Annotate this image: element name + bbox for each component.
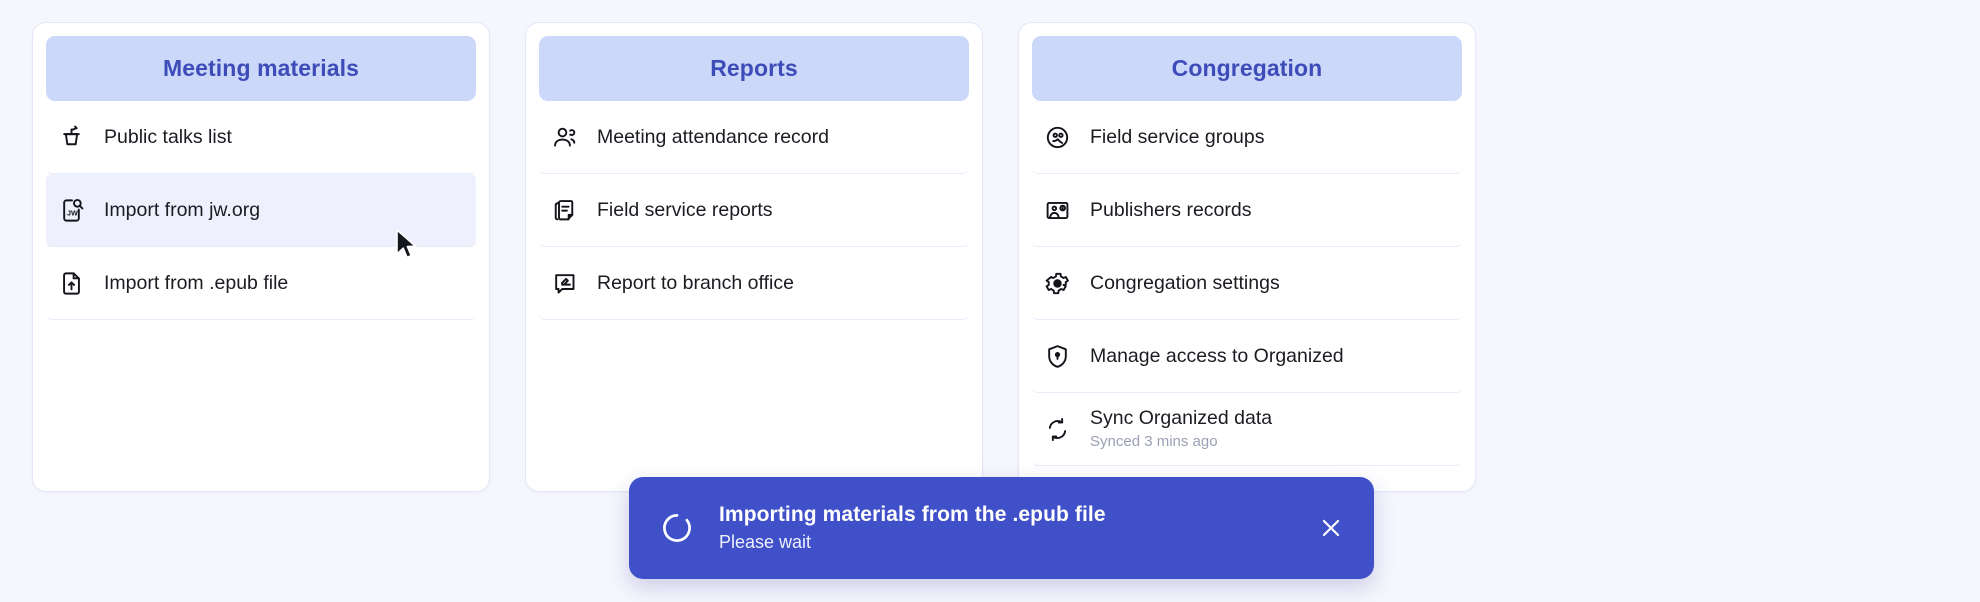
list-item-text: Meeting attendance record — [597, 125, 829, 149]
list-item-publishers-records[interactable]: Publishers records — [1032, 174, 1462, 247]
toast-notification: Importing materials from the .epub file … — [629, 477, 1374, 579]
list-item-text: Publishers records — [1090, 198, 1251, 222]
card-title: Meeting materials — [163, 55, 359, 82]
list-item-label: Manage access to Organized — [1090, 344, 1344, 368]
card-header-congregation: Congregation — [1032, 36, 1462, 101]
list-item-text: Manage access to Organized — [1090, 344, 1344, 368]
card-title: Reports — [710, 55, 798, 82]
list-item-import-from-jw-org[interactable]: JW Import from jw.org — [46, 174, 476, 247]
card-congregation: Congregation Field service groups — [1018, 22, 1476, 492]
card-list-congregation: Field service groups Publishers records — [1032, 101, 1462, 466]
list-item-label: Import from .epub file — [104, 271, 288, 295]
card-reports: Reports Meeting attendance record — [525, 22, 983, 492]
file-upload-icon — [56, 268, 86, 298]
person-circle-icon — [1042, 122, 1072, 152]
list-item-field-service-groups[interactable]: Field service groups — [1032, 101, 1462, 174]
list-item-label: Report to branch office — [597, 271, 794, 295]
svg-text:JW: JW — [67, 208, 78, 217]
card-title: Congregation — [1172, 55, 1323, 82]
jw-document-search-icon: JW — [56, 195, 86, 225]
list-item-public-talks-list[interactable]: Public talks list — [46, 101, 476, 174]
shield-lock-icon — [1042, 341, 1072, 371]
speech-bubble-edit-icon — [549, 268, 579, 298]
card-header-reports: Reports — [539, 36, 969, 101]
list-item-label: Public talks list — [104, 125, 232, 149]
list-item-report-to-branch-office[interactable]: Report to branch office — [539, 247, 969, 320]
list-item-label: Meeting attendance record — [597, 125, 829, 149]
close-icon[interactable] — [1314, 511, 1348, 545]
list-item-label: Congregation settings — [1090, 271, 1280, 295]
card-list-reports: Meeting attendance record Field service … — [539, 101, 969, 320]
list-item-text: Import from .epub file — [104, 271, 288, 295]
list-item-text: Sync Organized data Synced 3 mins ago — [1090, 406, 1272, 451]
list-item-manage-access-to-organized[interactable]: Manage access to Organized — [1032, 320, 1462, 393]
list-item-import-from-epub-file[interactable]: Import from .epub file — [46, 247, 476, 320]
id-card-icon — [1042, 195, 1072, 225]
documents-stack-icon — [549, 195, 579, 225]
list-item-text: Import from jw.org — [104, 198, 260, 222]
toast-title: Importing materials from the .epub file — [719, 503, 1314, 527]
lectern-icon — [56, 122, 86, 152]
toast-subtitle: Please wait — [719, 532, 1314, 553]
list-item-text: Field service groups — [1090, 125, 1265, 149]
list-item-text: Congregation settings — [1090, 271, 1280, 295]
list-item-congregation-settings[interactable]: Congregation settings — [1032, 247, 1462, 320]
list-item-meeting-attendance-record[interactable]: Meeting attendance record — [539, 101, 969, 174]
card-header-meeting-materials: Meeting materials — [46, 36, 476, 101]
list-item-text: Report to branch office — [597, 271, 794, 295]
list-item-label: Sync Organized data — [1090, 406, 1272, 430]
card-meeting-materials: Meeting materials Public talks list — [32, 22, 490, 492]
list-item-text: Public talks list — [104, 125, 232, 149]
list-item-field-service-reports[interactable]: Field service reports — [539, 174, 969, 247]
list-item-text: Field service reports — [597, 198, 773, 222]
loading-spinner-icon — [659, 510, 695, 546]
list-item-label: Import from jw.org — [104, 198, 260, 222]
list-item-sync-organized-data[interactable]: Sync Organized data Synced 3 mins ago — [1032, 393, 1462, 466]
gear-icon — [1042, 268, 1072, 298]
sync-icon — [1042, 414, 1072, 444]
list-item-label: Field service groups — [1090, 125, 1265, 149]
people-icon — [549, 122, 579, 152]
list-item-label: Publishers records — [1090, 198, 1251, 222]
card-list-meeting-materials: Public talks list JW Import from jw.org — [46, 101, 476, 320]
toast-body: Importing materials from the .epub file … — [719, 503, 1314, 553]
list-item-label: Field service reports — [597, 198, 773, 222]
list-item-sublabel: Synced 3 mins ago — [1090, 433, 1272, 452]
